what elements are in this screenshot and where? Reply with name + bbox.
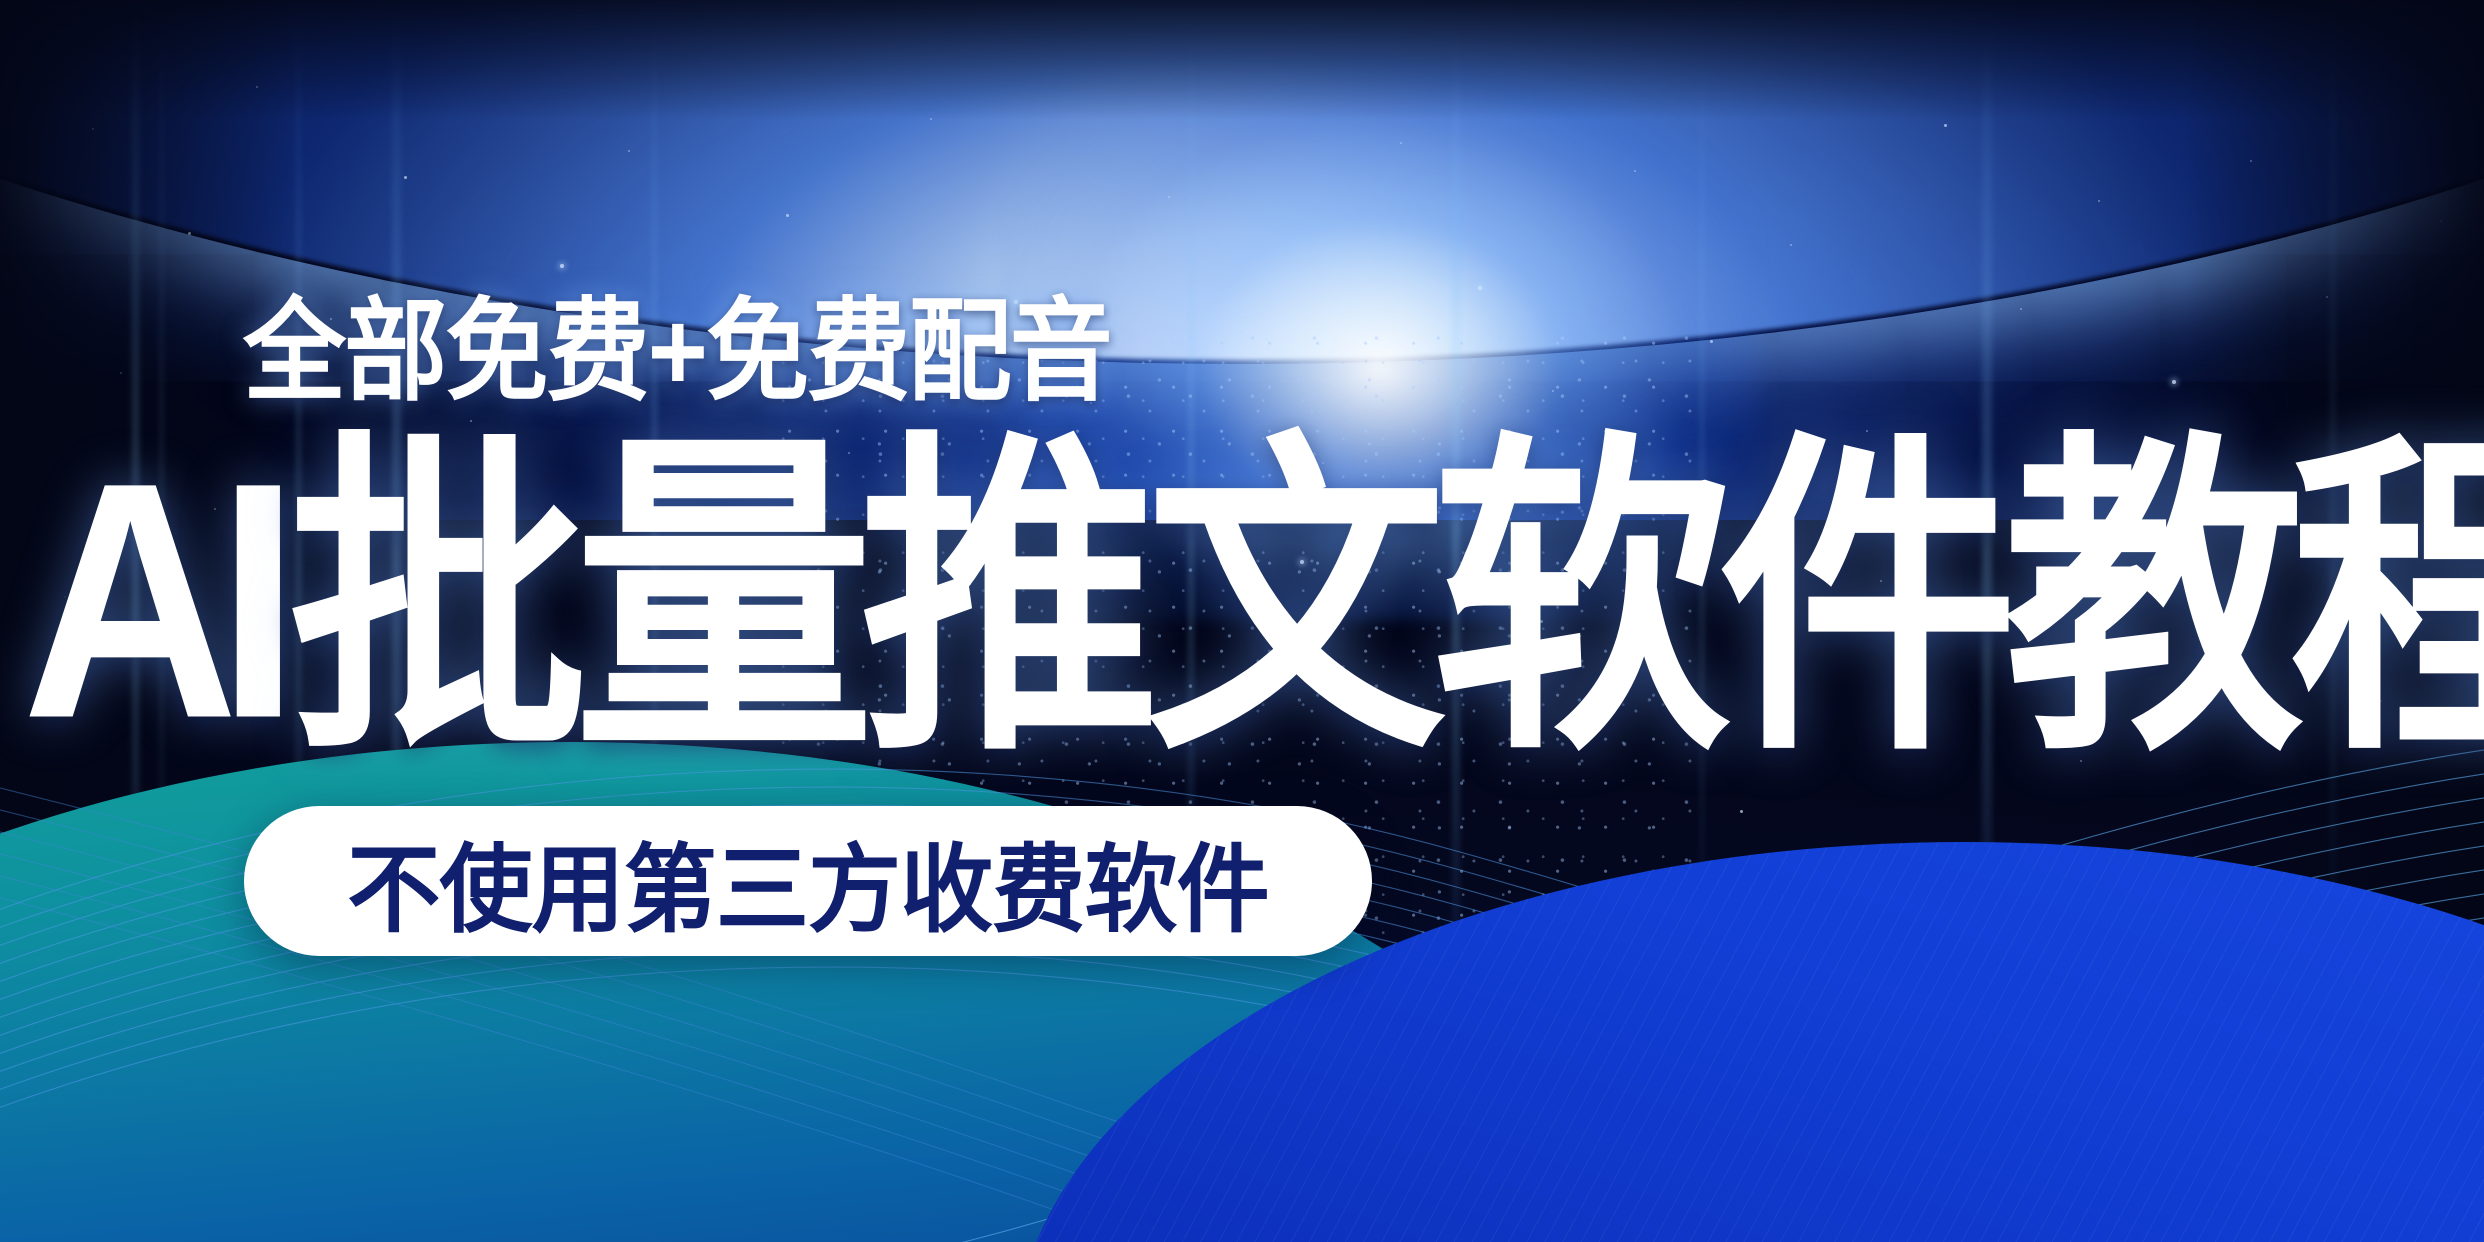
badge-pill: 不使用第三方收费软件 (244, 806, 1372, 956)
headline-rest: 批量推文软件教程 (288, 412, 2484, 788)
poster-copy: 全部免费+免费配音 AI批量推文软件教程 不使用第三方收费软件 (0, 0, 2484, 1242)
page-title: AI批量推文软件教程 (22, 432, 2470, 768)
subtitle-line: 全部免费+免费配音 (243, 296, 1111, 408)
poster-canvas: 全部免费+免费配音 AI批量推文软件教程 不使用第三方收费软件 (0, 0, 2484, 1242)
badge-label: 不使用第三方收费软件 (261, 806, 1355, 956)
headline-prefix: AI (22, 412, 288, 788)
